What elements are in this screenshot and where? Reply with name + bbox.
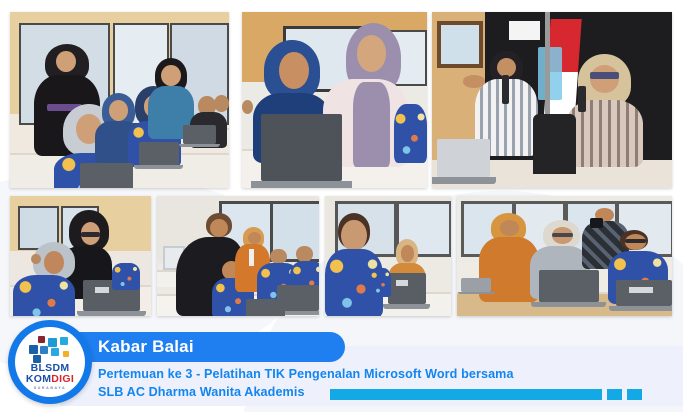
photo-bottom-left-image: [10, 196, 151, 316]
photo-bottom-center-left-image: [157, 196, 319, 316]
logo-block: [38, 336, 45, 343]
photo-bottom-left[interactable]: [10, 196, 151, 316]
logo-block: [48, 338, 57, 347]
logo-block: [29, 345, 38, 354]
accent-bar-segment-small-1: [607, 389, 622, 400]
photo-bottom-center-right[interactable]: [325, 196, 451, 316]
bottom-banner: Kabar Balai Pertemuan ke 3 - Pelatihan T…: [0, 316, 683, 412]
banner-eyebrow-label: Kabar Balai: [98, 336, 194, 358]
photo-top-left[interactable]: [10, 12, 229, 188]
logo-kom-text: KOM: [26, 373, 51, 385]
logo-wordmark: BLSDM KOMDIGI SURABAYA: [15, 363, 85, 391]
accent-bar-segment-long: [330, 389, 602, 400]
photo-top-right-image: [432, 12, 672, 188]
photo-top-center-image: [242, 12, 427, 188]
photo-gallery: [0, 0, 683, 330]
photo-top-center[interactable]: [242, 12, 427, 188]
blsdm-komdigi-logo[interactable]: BLSDM KOMDIGI SURABAYA: [8, 320, 92, 404]
accent-bar-segment-small-2: [627, 389, 642, 400]
accent-bar: [330, 389, 642, 400]
logo-block: [60, 337, 68, 345]
logo-block: [40, 346, 48, 354]
logo-inner-circle: BLSDM KOMDIGI SURABAYA: [15, 327, 85, 397]
logo-block: [51, 348, 59, 356]
pixel-blocks-icon: [27, 336, 73, 364]
logo-block: [63, 351, 69, 357]
banner-headline-line1: Pertemuan ke 3 - Pelatihan TIK Pengenala…: [98, 366, 638, 384]
photo-bottom-center-right-image: [325, 196, 451, 316]
logo-line-komdigi: KOMDIGI: [15, 374, 85, 385]
logo-line-city: SURABAYA: [15, 385, 85, 391]
photo-top-right[interactable]: [432, 12, 672, 188]
photo-bottom-center-left[interactable]: [157, 196, 319, 316]
photo-bottom-right-image: [457, 196, 672, 316]
photo-bottom-right[interactable]: [457, 196, 672, 316]
poster-canvas: Kabar Balai Pertemuan ke 3 - Pelatihan T…: [0, 0, 683, 412]
photo-top-left-image: [10, 12, 229, 188]
logo-digi-text: DIGI: [51, 373, 74, 385]
